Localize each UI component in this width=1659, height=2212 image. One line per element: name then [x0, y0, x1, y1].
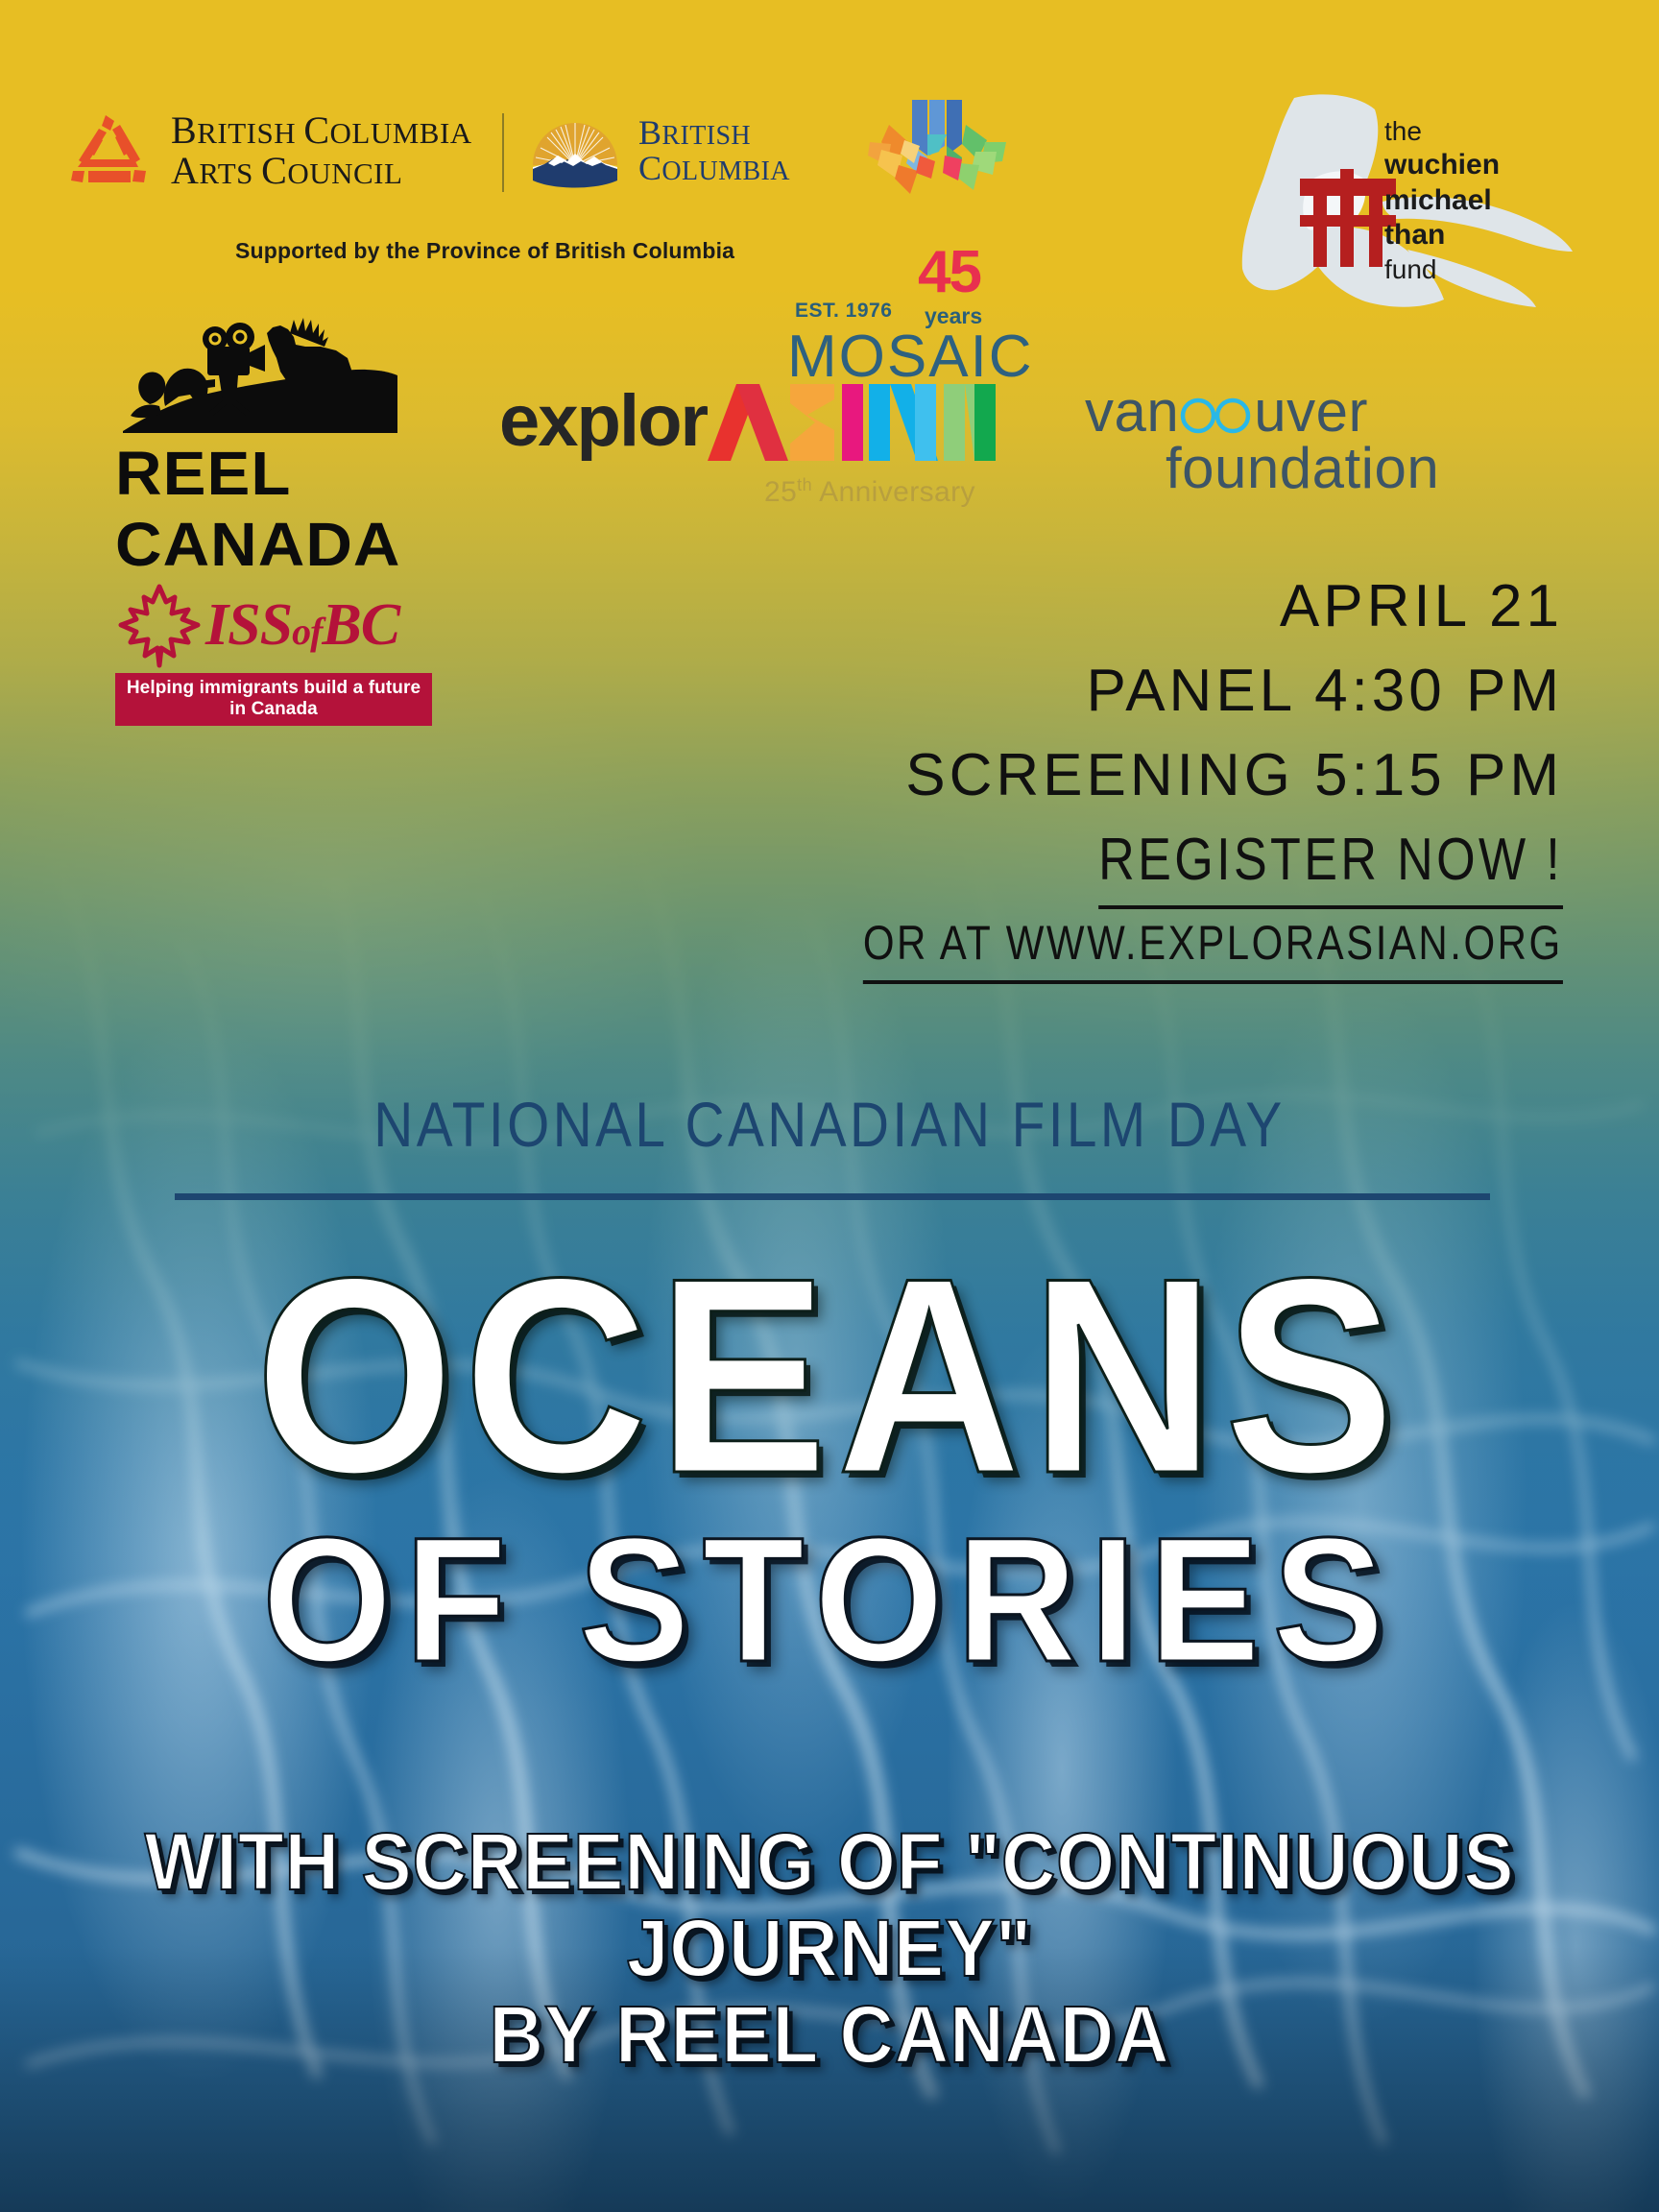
national-canadian-film-day-kicker: NATIONAL CANADIAN FILM DAY — [0, 1088, 1659, 1161]
mosaic-leaf-icon — [853, 96, 1025, 211]
wuchien-line-the: the — [1384, 115, 1500, 148]
reel-canada-beaver-camera-deer-icon — [115, 312, 403, 442]
british-columbia-wordmark: BRITISH COLUMBIA — [638, 115, 790, 185]
event-date-row: APRIL 21 — [730, 565, 1563, 649]
explorasian-anniv-sup: th — [797, 475, 812, 494]
bcac-line2-cap: A — [171, 149, 199, 192]
wuchien-line-than: than — [1384, 218, 1500, 253]
iss-of-bc-logo: ISSofBC Helping immigrants build a futur… — [115, 581, 432, 726]
mosaic-logo: 45 years EST. 1976 MOSAIC — [795, 96, 1083, 211]
explorasian-wordmark: explor — [499, 379, 707, 463]
mosaic-anniversary-number: 45 — [918, 238, 980, 306]
bc-arts-council-wordmark: BRITISH COLUMBIA ARTS COUNCIL — [171, 110, 472, 190]
reel-canada-logo: REEL CANADA — [115, 312, 432, 580]
explorasian-anniv-word: Anniversary — [819, 476, 975, 508]
explorasian-ribbon-icon — [708, 380, 996, 463]
bcac-line2-rest2: OUNCIL — [287, 156, 402, 190]
iss-of-bc-wordmark: ISSofBC — [205, 591, 399, 660]
vancouver-foundation-logo: vanuver foundation — [1085, 384, 1439, 497]
event-screening-row: SCREENING 5:15 PM — [730, 733, 1563, 818]
register-now-link[interactable]: REGISTER NOW ! — [1098, 818, 1563, 909]
kicker-divider-rule — [175, 1193, 1490, 1200]
wuchien-michael-than-fund-logo: the wuchien michael than fund — [1238, 86, 1575, 317]
infinity-icon — [1179, 395, 1254, 437]
logo-divider — [502, 113, 504, 192]
bcac-line1-cap: B — [171, 108, 197, 152]
wuchien-line-fund: fund — [1384, 253, 1500, 286]
bc-arts-council-triangle-icon — [67, 111, 150, 190]
british-columbia-logo: BRITISH COLUMBIA — [529, 113, 790, 188]
explorasian-anniversary: 25th Anniversary — [764, 475, 975, 509]
maple-leaf-outline-icon — [115, 581, 204, 669]
iss-of-bc-top: ISSofBC — [115, 581, 432, 669]
bcac-line2-cap2: C — [261, 149, 287, 192]
title-oceans: OCEANS — [66, 1248, 1593, 1504]
event-register-row[interactable]: REGISTER NOW ! — [730, 818, 1563, 909]
screening-credit-block: WITH SCREENING OF "CONTINUOUS JOURNEY" B… — [58, 1819, 1600, 2079]
vanfnd-van: van — [1085, 379, 1179, 444]
event-screening-time: SCREENING 5:15 PM — [905, 742, 1563, 808]
vanfnd-uver: uver — [1254, 379, 1368, 444]
bcac-line1-cap2: C — [303, 108, 329, 152]
bcac-line1-rest: RITISH — [197, 116, 303, 150]
issbc-iss: ISS — [205, 592, 292, 658]
event-details-block: APRIL 21 PANEL 4:30 PM SCREENING 5:15 PM… — [730, 565, 1563, 984]
mosaic-established-text: EST. 1976 — [795, 300, 892, 323]
bcgov-line2-rest: OLUMBIA — [661, 156, 789, 186]
credit-line-2: BY REEL CANADA — [58, 1992, 1600, 2079]
issbc-of: of — [292, 610, 322, 653]
bcgov-line1-rest: RITISH — [661, 121, 751, 151]
bcgov-line1-cap: B — [638, 113, 661, 152]
event-date: APRIL 21 — [1280, 573, 1563, 639]
iss-of-bc-tagline: Helping immigrants build a future in Can… — [115, 673, 432, 726]
wuchien-line-michael: michael — [1384, 183, 1500, 219]
explorasian-anniv-number: 25 — [764, 476, 797, 508]
title-of-stories: OF STORIES — [50, 1512, 1609, 1690]
poster-root: BRITISH COLUMBIA ARTS COUNCIL Supported … — [0, 0, 1659, 2212]
province-support-text: Supported by the Province of British Col… — [235, 238, 734, 264]
event-panel-time: PANEL 4:30 PM — [1086, 658, 1563, 724]
event-url-row[interactable]: OR AT WWW.EXPLORASIAN.ORG — [730, 909, 1563, 984]
wuchien-wordmark: the wuchien michael than fund — [1384, 115, 1500, 286]
event-panel-row: PANEL 4:30 PM — [730, 649, 1563, 733]
bcac-line2-rest: RTS — [199, 156, 261, 190]
bcac-line1-rest2: OLUMBIA — [330, 116, 472, 150]
reel-canada-wordmark: REEL CANADA — [115, 438, 447, 580]
issbc-bc: BC — [322, 592, 399, 658]
vancouver-foundation-line2: foundation — [1166, 441, 1439, 497]
main-title-block: OCEANS OF STORIES — [0, 1248, 1659, 1690]
vancouver-foundation-line1: vanuver — [1085, 384, 1439, 441]
explorasian-website-link[interactable]: OR AT WWW.EXPLORASIAN.ORG — [863, 909, 1563, 984]
bc-arts-council-logo: BRITISH COLUMBIA ARTS COUNCIL — [67, 110, 472, 190]
credit-line-1: WITH SCREENING OF "CONTINUOUS JOURNEY" — [58, 1819, 1600, 1992]
kicker-text: NATIONAL CANADIAN FILM DAY — [373, 1088, 1285, 1161]
explorasian-logo: explor 25th Anniversary — [499, 379, 996, 463]
bc-sun-mountain-icon — [529, 113, 621, 188]
wuchien-line-wuchien: wuchien — [1384, 148, 1500, 183]
bcgov-line2-cap: C — [638, 149, 661, 187]
